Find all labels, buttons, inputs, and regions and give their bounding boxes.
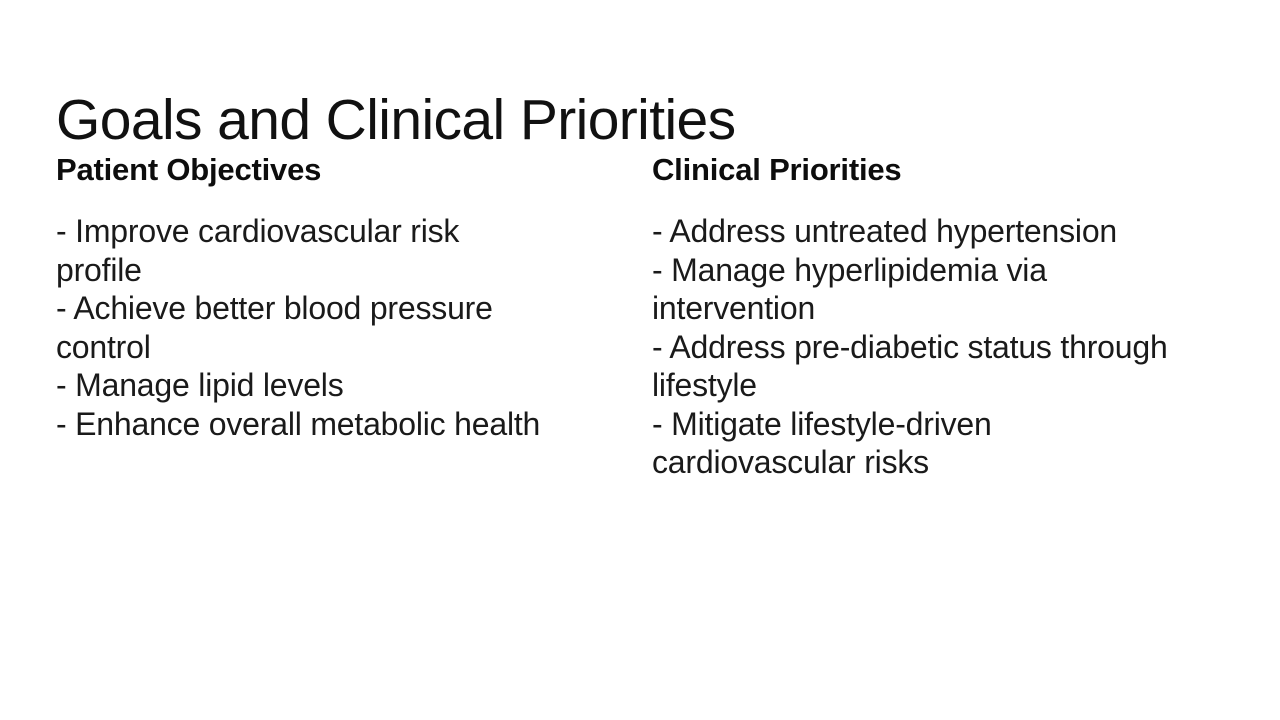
column-patient-objectives: Patient Objectives - Improve cardiovascu… bbox=[56, 150, 596, 443]
page-title: Goals and Clinical Priorities bbox=[56, 90, 1216, 152]
bullet-list-clinical-priorities: - Address untreated hypertension - Manag… bbox=[652, 212, 1192, 482]
list-item: - Manage hyperlipidemia via intervention bbox=[652, 251, 1177, 328]
list-item: - Address untreated hypertension bbox=[652, 212, 1177, 251]
list-item: - Manage lipid levels bbox=[56, 366, 546, 405]
list-item: - Achieve better blood pressure control bbox=[56, 289, 546, 366]
presentation-slide: Goals and Clinical Priorities Patient Ob… bbox=[0, 0, 1280, 720]
list-item: - Mitigate lifestyle-driven cardiovascul… bbox=[652, 405, 1177, 482]
column-clinical-priorities: Clinical Priorities - Address untreated … bbox=[652, 150, 1192, 482]
column-heading-clinical-priorities: Clinical Priorities bbox=[652, 150, 1192, 190]
list-item: - Improve cardiovascular risk profile bbox=[56, 212, 546, 289]
list-item: - Enhance overall metabolic health bbox=[56, 405, 546, 444]
two-column-content: Patient Objectives - Improve cardiovascu… bbox=[56, 150, 1224, 482]
bullet-list-patient-objectives: - Improve cardiovascular risk profile - … bbox=[56, 212, 556, 443]
list-item: - Address pre-diabetic status through li… bbox=[652, 328, 1177, 405]
column-heading-patient-objectives: Patient Objectives bbox=[56, 150, 556, 190]
